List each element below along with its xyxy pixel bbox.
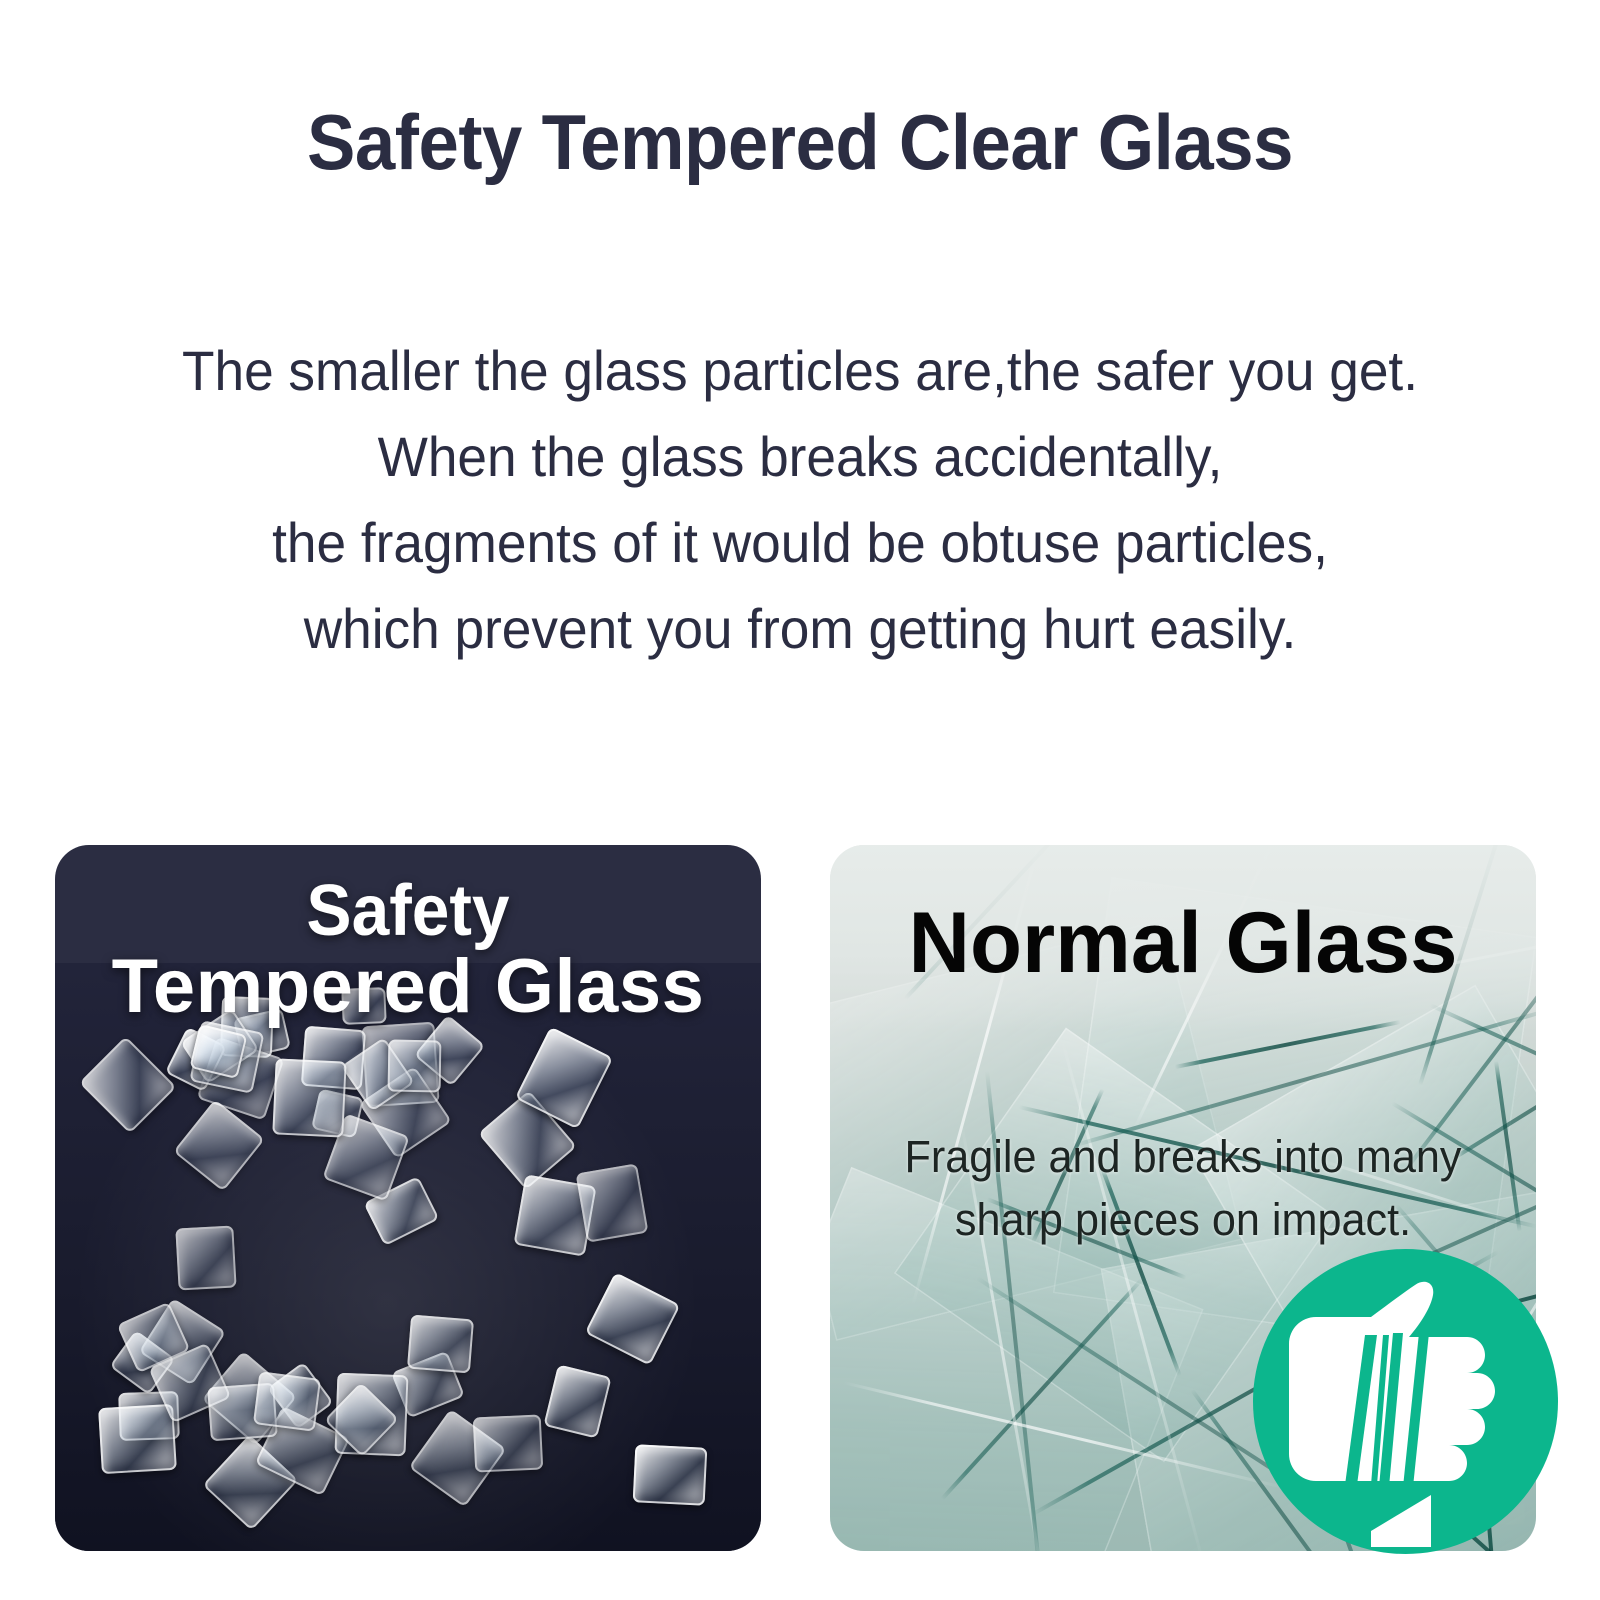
glass-pebble (342, 987, 387, 1025)
glass-pebble (407, 1315, 474, 1374)
tempered-glass-photo (55, 963, 761, 1551)
description-paragraph: The smaller the glass particles are,the … (40, 328, 1560, 672)
glass-pebble (632, 1444, 706, 1506)
description-line-3: the fragments of it would be obtuse part… (40, 500, 1560, 586)
glass-pebble (98, 1404, 177, 1474)
tempered-glass-panel: Safety Tempered Glass (55, 845, 761, 1551)
glass-pebble (253, 1372, 321, 1433)
normal-panel-top-haze (830, 845, 1536, 1030)
page-title: Safety Tempered Clear Glass (56, 96, 1544, 188)
glass-pebble (273, 1058, 347, 1137)
hand-cut-by-glass-icon (1253, 1249, 1558, 1554)
description-line-4: which prevent you from getting hurt easi… (40, 586, 1560, 672)
glass-pebble (79, 1037, 177, 1135)
glass-pebble (175, 1225, 236, 1290)
glass-pebble (575, 1164, 648, 1243)
tempered-pebble-field (55, 963, 761, 1551)
glass-pebble (585, 1272, 681, 1366)
glass-pebble (387, 1039, 441, 1092)
glass-pebble (472, 1414, 542, 1473)
description-line-2: When the glass breaks accidentally, (40, 414, 1560, 500)
tempered-label-line-1: Safety (76, 873, 740, 949)
glass-pebble (543, 1364, 612, 1438)
description-line-1: The smaller the glass particles are,the … (40, 328, 1560, 414)
